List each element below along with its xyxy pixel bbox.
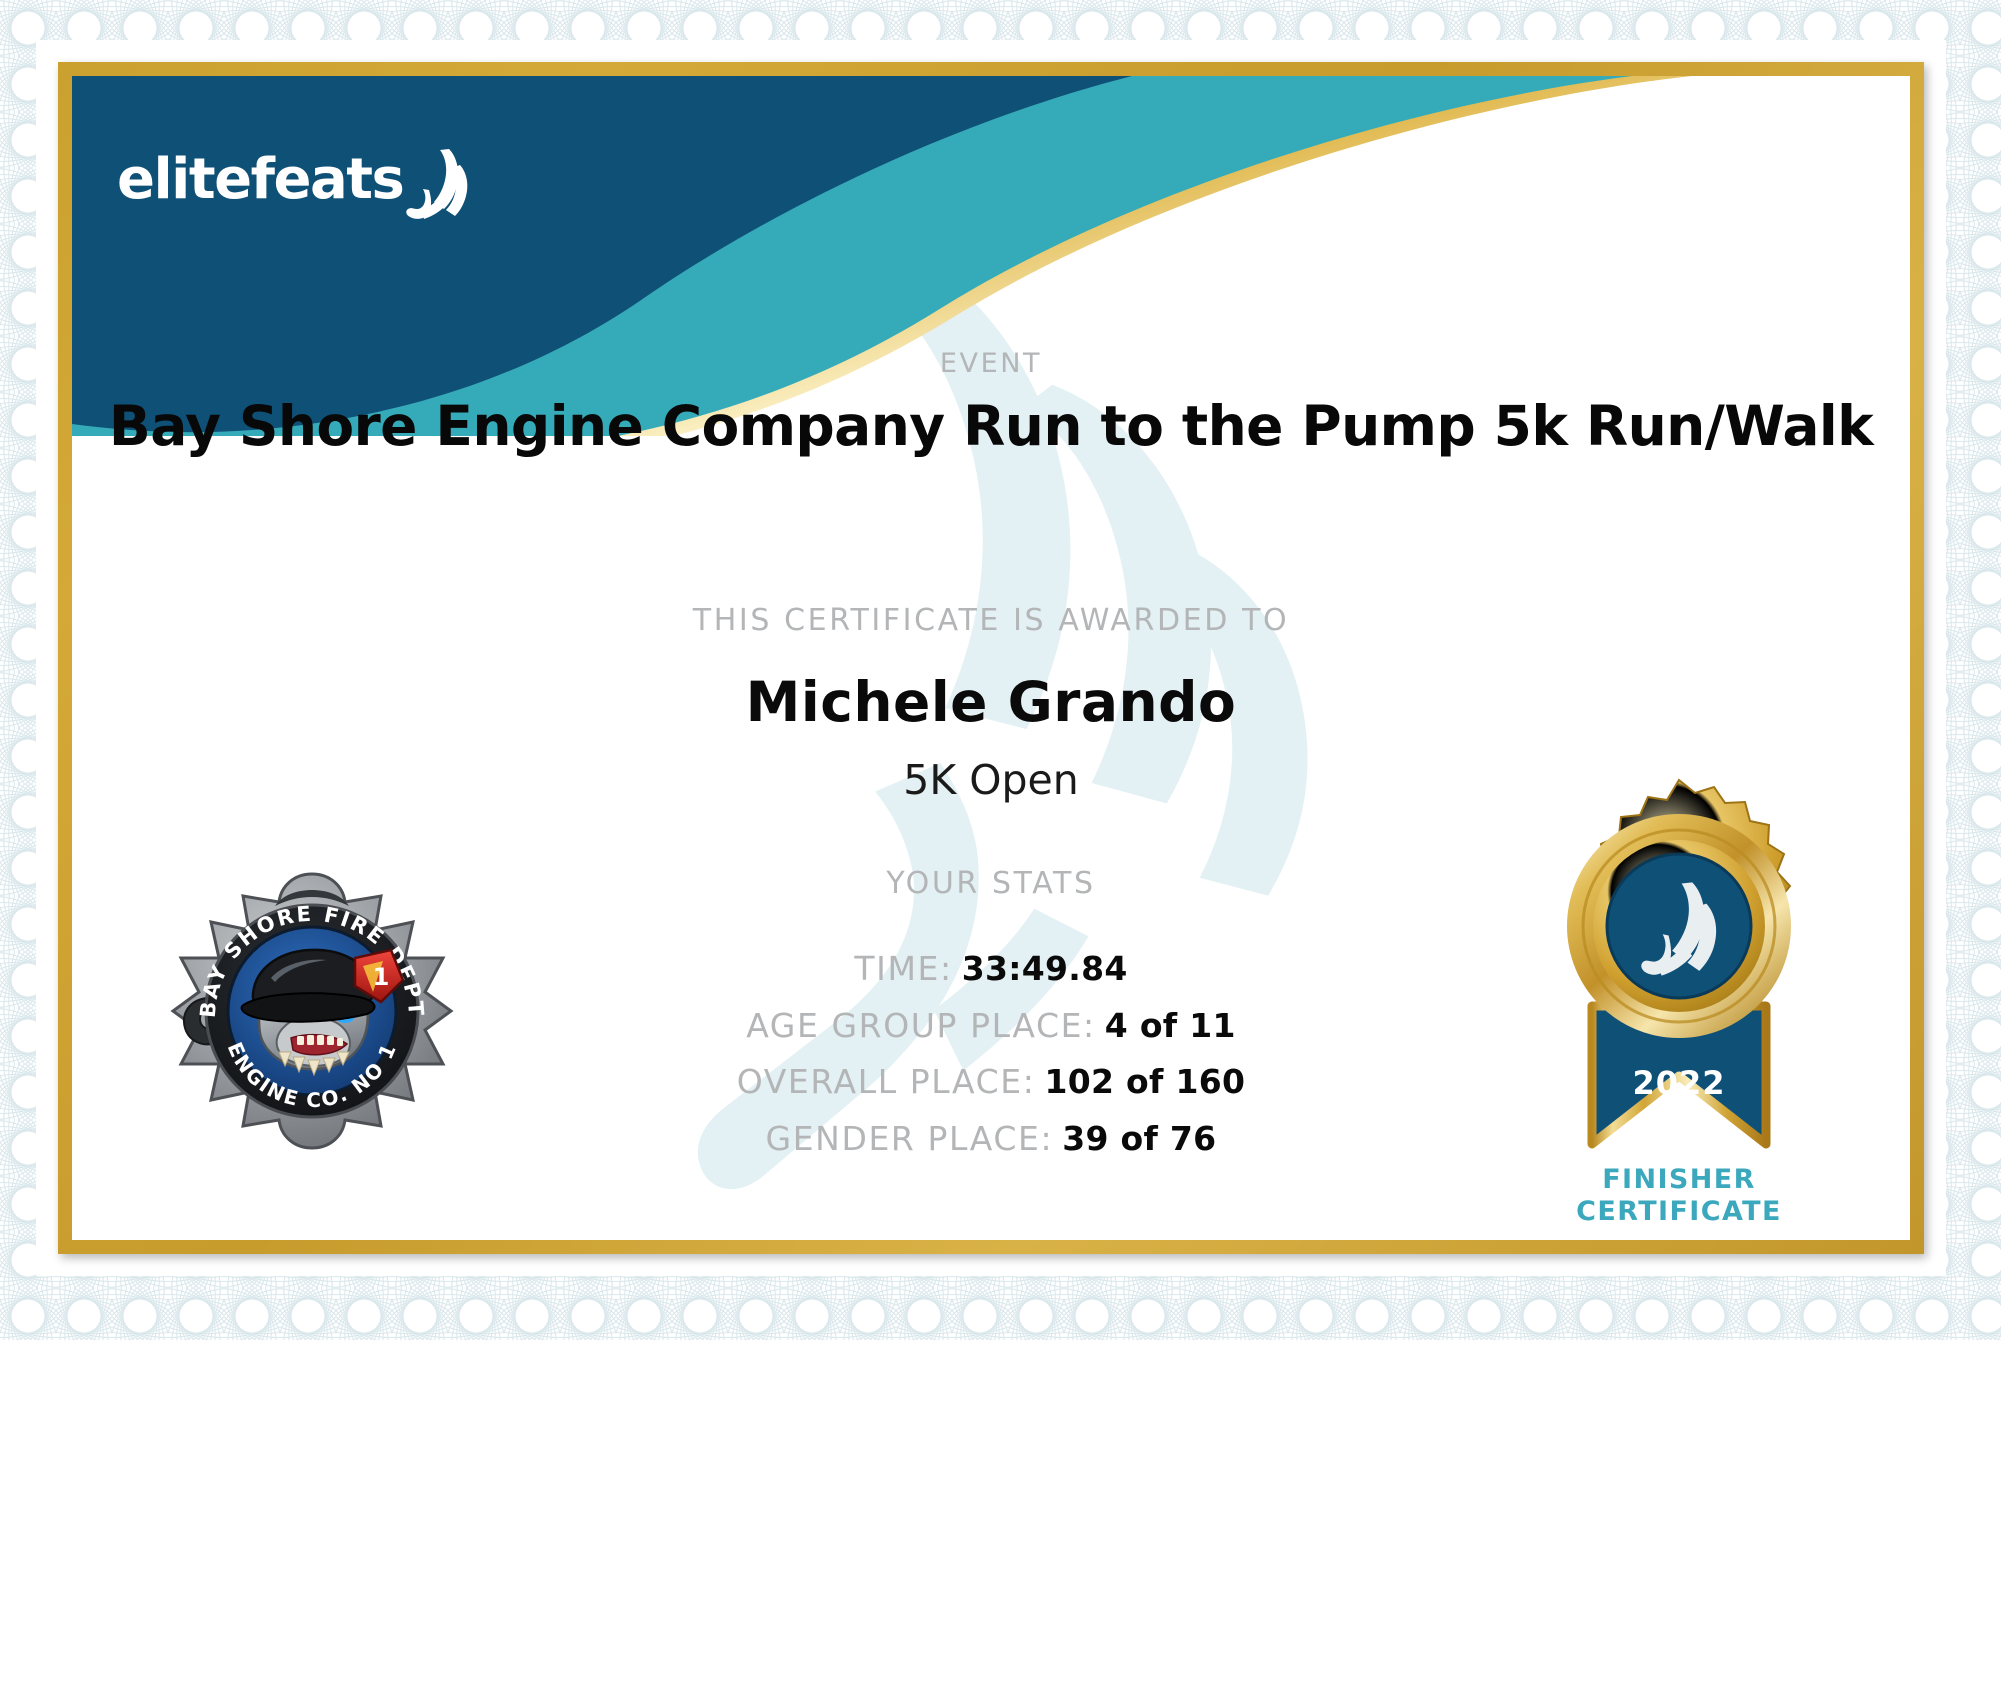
- winged-shoe-icon: [405, 145, 471, 221]
- medal-year: 2022: [1514, 1064, 1844, 1102]
- certificate-card: elitefeats EVENT Bay Shore Engine Compan…: [72, 76, 1910, 1240]
- stat-value: 102 of 160: [1044, 1062, 1245, 1101]
- certificate-page: elitefeats EVENT Bay Shore Engine Compan…: [0, 0, 2001, 1700]
- recipient-name: Michele Grando: [72, 670, 1910, 734]
- certificate-gold-frame: elitefeats EVENT Bay Shore Engine Compan…: [58, 62, 1924, 1254]
- logo-wordmark: elitefeats: [117, 152, 403, 208]
- bay-shore-fire-dept-bulldog-badge-icon: BAY SHORE FIRE DEPT ENGINE CO. NO 1: [167, 866, 457, 1156]
- awarded-to-label: THIS CERTIFICATE IS AWARDED TO: [72, 603, 1910, 638]
- event-title: Bay Shore Engine Company Run to the Pump…: [72, 394, 1910, 458]
- gold-rosette-medal-icon: [1514, 776, 1844, 1166]
- stat-value: 4 of 11: [1105, 1006, 1236, 1045]
- stat-key: TIME:: [854, 949, 952, 988]
- stat-key: OVERALL PLACE:: [737, 1062, 1036, 1101]
- stat-value: 33:49.84: [962, 949, 1128, 988]
- helmet-number: 1: [373, 963, 390, 991]
- elitefeats-logo: elitefeats: [117, 134, 477, 226]
- stat-value: 39 of 76: [1062, 1119, 1216, 1158]
- medal-caption-line2: CERTIFICATE: [1576, 1196, 1782, 1227]
- finisher-medal: 2022 FINISHER CERTIFICATE: [1514, 776, 1844, 1216]
- medal-caption-line1: FINISHER: [1602, 1164, 1756, 1195]
- stat-key: AGE GROUP PLACE:: [746, 1006, 1096, 1045]
- event-label: EVENT: [72, 348, 1910, 379]
- stat-key: GENDER PLACE:: [766, 1119, 1054, 1158]
- medal-caption: FINISHER CERTIFICATE: [1514, 1164, 1844, 1228]
